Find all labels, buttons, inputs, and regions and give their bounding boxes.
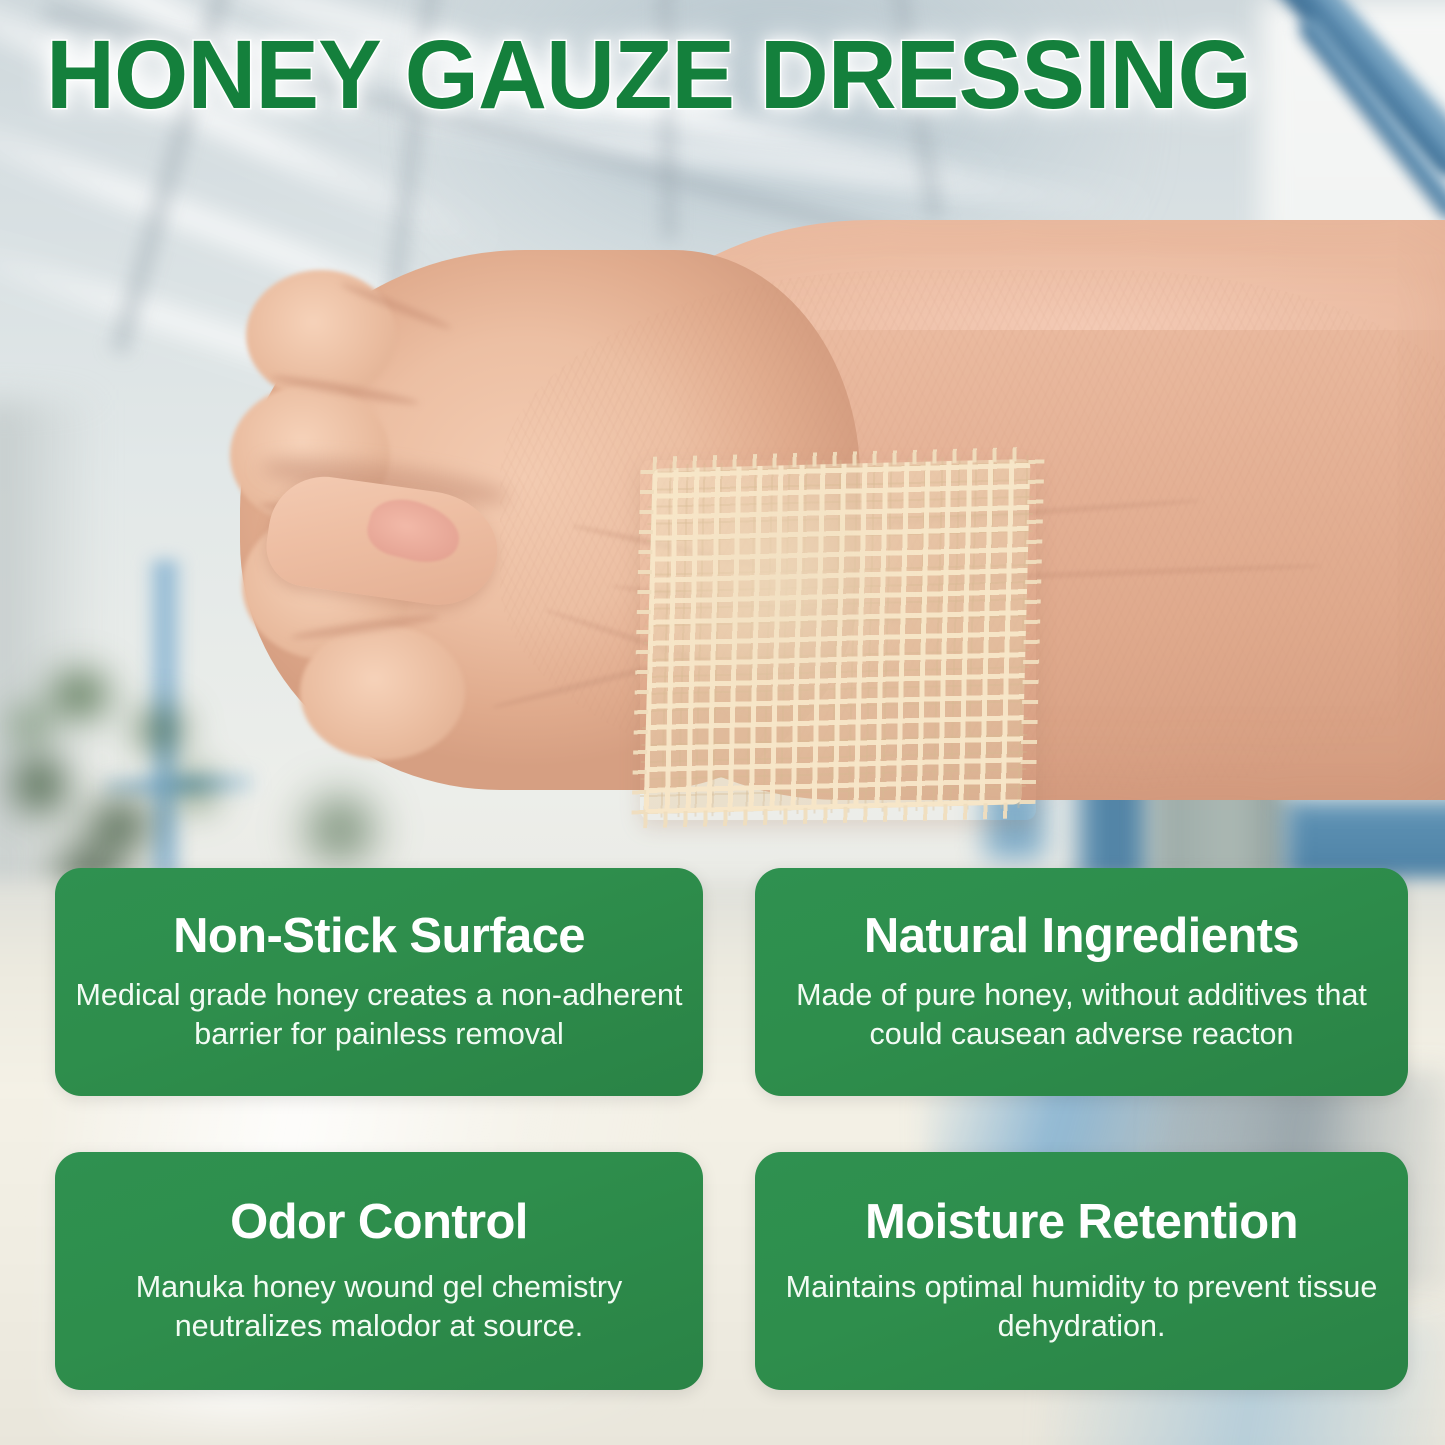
- gauze-honey-saturation: [676, 490, 912, 716]
- feature-card-moisture-retention: Moisture Retention Maintains optimal hum…: [755, 1152, 1408, 1390]
- feature-card-title: Odor Control: [230, 1197, 528, 1248]
- feature-card-title: Moisture Retention: [865, 1197, 1298, 1248]
- feature-card-title: Non-Stick Surface: [173, 911, 585, 962]
- feature-card-non-stick-surface: Non-Stick Surface Medical grade honey cr…: [55, 868, 703, 1096]
- feature-card-odor-control: Odor Control Manuka honey wound gel chem…: [55, 1152, 703, 1390]
- feature-card-body: Manuka honey wound gel chemistry neutral…: [73, 1268, 685, 1345]
- feature-card-natural-ingredients: Natural Ingredients Made of pure honey, …: [755, 868, 1408, 1096]
- hand-and-forearm: [240, 210, 1445, 795]
- feature-card-body: Made of pure honey, without additives th…: [773, 976, 1390, 1053]
- product-infographic: HONEY GAUZE DRESSING Non-Stick Surface M…: [0, 0, 1445, 1445]
- page-title: HONEY GAUZE DRESSING: [46, 26, 1386, 125]
- knuckle: [300, 625, 465, 760]
- feature-card-body: Medical grade honey creates a non-adhere…: [73, 976, 685, 1053]
- honey-gauze-dressing: [644, 459, 1031, 814]
- feature-card-title: Natural Ingredients: [864, 911, 1299, 962]
- feature-card-body: Maintains optimal humidity to prevent ti…: [773, 1268, 1390, 1345]
